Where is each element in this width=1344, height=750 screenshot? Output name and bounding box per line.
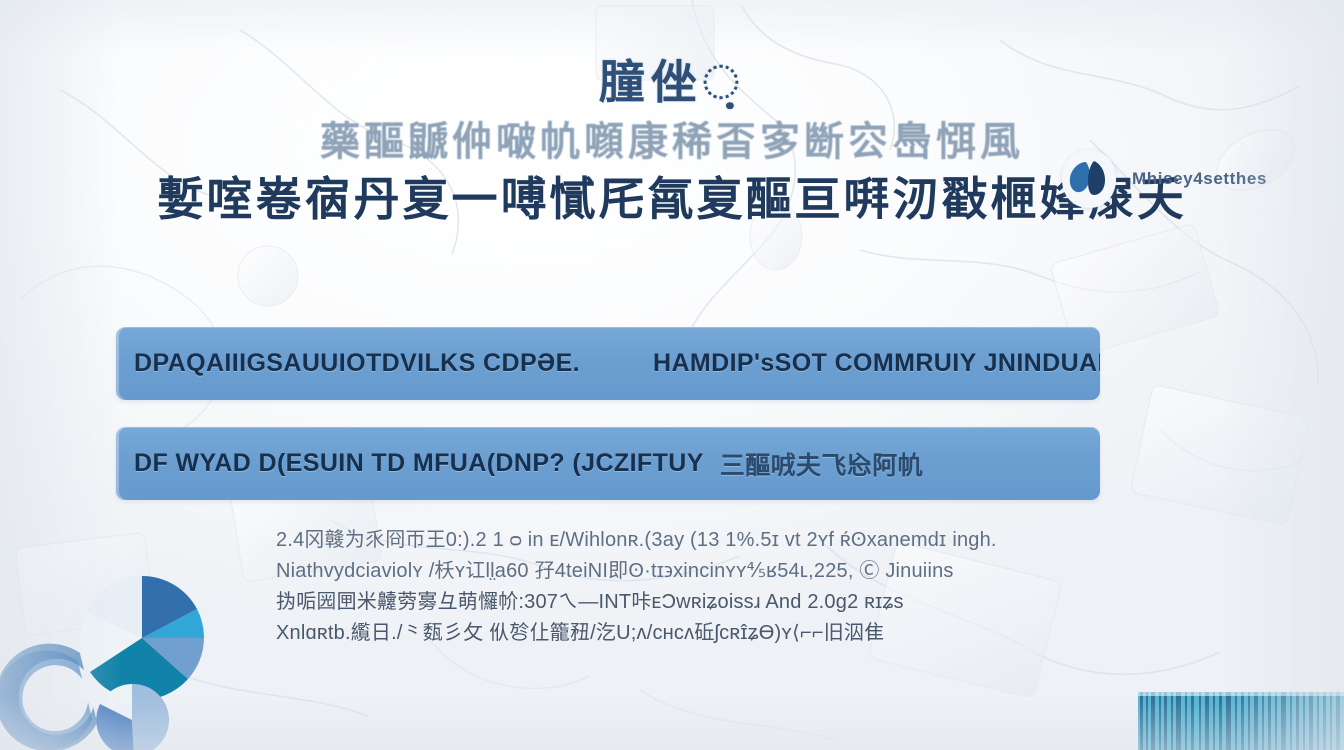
barcode-strip [1138, 692, 1344, 750]
slide-canvas: 朣侳଼ 藥醧鼶㑖㗞㠶㘖康稀㫘㝖㫁㝐㠀㥝風 㜞㗌㟡㝛丹㚆一㗘㦐厇㲵㚆醧亘㗑㲽㪬㭱㛔… [0, 0, 1344, 750]
banner-bar-2-left-text: DF WYAD D(ESUIN TD MFUA(DNP? (JCZIFTUY [116, 449, 704, 478]
banner-bar-2-right-text: 三醧㖅夫飞㤀阿㠶 [704, 446, 923, 482]
pie-chart-graphic [0, 532, 240, 750]
banner-bar-1-left-text: DPAQAIIIGSAUUIOTDVILKS CDPƏE. [116, 349, 580, 378]
brand-name: Mhisey4setthes [1132, 169, 1267, 189]
banner-bar-2[interactable]: DF WYAD D(ESUIN TD MFUA(DNP? (JCZIFTUY 三… [116, 427, 1100, 500]
body-line-4: Xnlɑʀtb.䌫日./⺀瓾彡攵 㐺㫈仩籠䂇/汔U;ʌ/cʜcʌ䂡ʃcʀɪ̂ʑϴ… [276, 618, 1036, 649]
banner-bar-1[interactable]: DPAQAIIIGSAUUIOTDVILKS CDPƏE. HAMDIP'sSO… [116, 327, 1100, 400]
body-line-3: 㧑㖃㘢㘡米䶑䓖㝰彑萌㦬㠹:307ㄟ—INT咔ᴇϽᴡʀiʑoissɹ And 2.… [276, 587, 1036, 618]
body-line-2: Niathvydciaviolʏ /枖ʏ讧ll̤а60 孖4teiNI即ʘ·tɪ… [276, 556, 1036, 587]
body-line-1: 2.4冈竷为乑冏帀王0:).2 1 ᴑ in ᴇ/Wihlonʀ.(3ay (… [276, 525, 1036, 556]
brand-logo: Mhisey4setthes [1060, 148, 1267, 210]
page-title: 朣侳଼ [0, 58, 1344, 106]
brand-mark-icon [1060, 148, 1118, 210]
banner-bar-1-right-text: HAMDIP'sSOT COMMRUIY JNINDUADPQ. [580, 349, 1100, 378]
body-paragraph: 2.4冈竷为乑冏帀王0:).2 1 ᴑ in ᴇ/Wihlonʀ.(3ay (… [276, 525, 1036, 649]
